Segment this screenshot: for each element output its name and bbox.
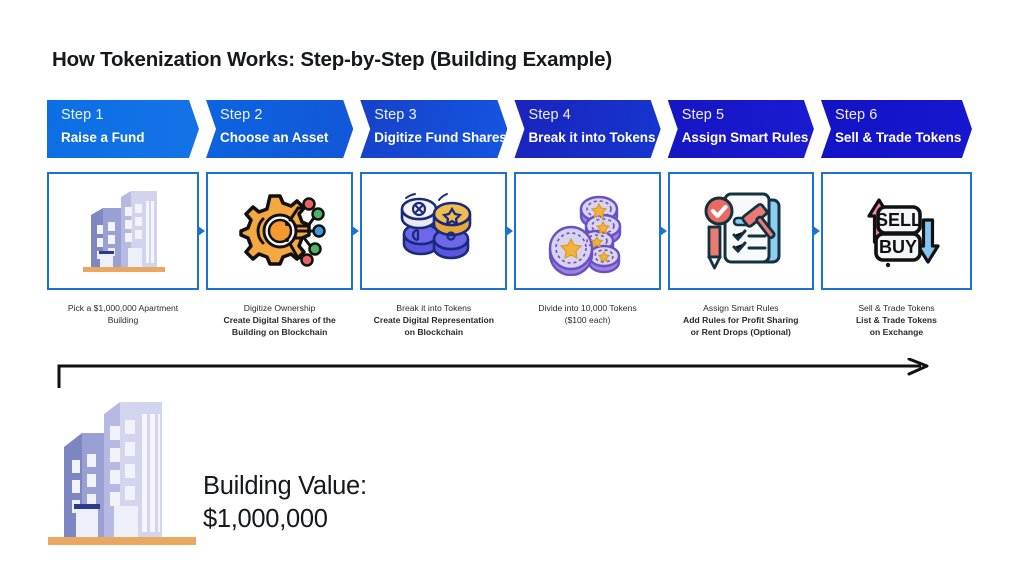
icon-card-6[interactable]: SELL BUY: [821, 172, 972, 290]
caption-5-line1: Assign Smart Rules: [668, 302, 814, 314]
caption-3: Break it into Tokens Create Digital Repr…: [360, 302, 507, 339]
caption-3-line3: on Blockchain: [360, 326, 507, 338]
caption-2-line3: Building on Blockchain: [206, 326, 353, 338]
step-number-1: Step 1: [61, 107, 199, 124]
caption-5: Assign Smart Rules Add Rules for Profit …: [668, 302, 814, 339]
caption-6-line1: Sell & Trade Tokens: [821, 302, 972, 314]
step-number-5: Step 5: [682, 107, 814, 124]
icon-card-3[interactable]: [360, 172, 507, 290]
caption-5-line2: Add Rules for Profit Sharing: [668, 314, 814, 326]
step-banner-5[interactable]: Step 5 Assign Smart Rules: [668, 100, 814, 158]
connector-arrow-2: [352, 226, 359, 236]
step-number-4: Step 4: [528, 107, 660, 124]
step-label-5: Assign Smart Rules: [682, 130, 814, 146]
token-stack-icon: [538, 186, 638, 276]
caption-6: Sell & Trade Tokens List & Trade Tokens …: [821, 302, 972, 339]
timeline-arrow: [55, 358, 945, 390]
step-banner-3[interactable]: Step 3 Digitize Fund Shares: [360, 100, 507, 158]
connector-arrow-1: [198, 226, 205, 236]
icon-card-row: SELL BUY: [47, 172, 972, 290]
coins-icon: [384, 186, 484, 276]
caption-3-line2: Create Digital Representation: [360, 314, 507, 326]
connector-arrow-5: [813, 226, 820, 236]
icon-card-4[interactable]: [514, 172, 660, 290]
caption-2: Digitize Ownership Create Digital Shares…: [206, 302, 353, 339]
building-value-block: Building Value: $1,000,000: [203, 470, 367, 535]
infographic-root: How Tokenization Works: Step-by-Step (Bu…: [0, 0, 1024, 576]
large-building-illustration: [38, 392, 208, 552]
caption-4-line1: Divide into 10,000 Tokens: [514, 302, 660, 314]
step-label-4: Break it into Tokens: [528, 130, 660, 146]
step-banner-4[interactable]: Step 4 Break it into Tokens: [514, 100, 660, 158]
icon-card-2[interactable]: [206, 172, 353, 290]
step-number-2: Step 2: [220, 107, 353, 124]
gear-circuit-icon: [230, 186, 330, 276]
step-label-6: Sell & Trade Tokens: [835, 130, 972, 146]
step-number-3: Step 3: [374, 107, 507, 124]
caption-4-line2: ($100 each): [514, 314, 660, 326]
building-value-label: Building Value:: [203, 470, 367, 503]
caption-2-line1: Digitize Ownership: [206, 302, 353, 314]
caption-3-line1: Break it into Tokens: [360, 302, 507, 314]
contract-gavel-icon: [691, 186, 791, 276]
caption-6-line3: on Exchange: [821, 326, 972, 338]
buy-icon-label: BUY: [879, 237, 917, 257]
caption-1-line1: Pick a $1,000,000 Apartment: [47, 302, 199, 314]
icon-card-5[interactable]: [668, 172, 814, 290]
step-label-1: Raise a Fund: [61, 130, 199, 146]
page-title: How Tokenization Works: Step-by-Step (Bu…: [52, 48, 612, 72]
sell-icon-label: SELL: [876, 210, 922, 230]
office-buildings-icon: [73, 185, 173, 277]
caption-6-line2: List & Trade Tokens: [821, 314, 972, 326]
step-number-6: Step 6: [835, 107, 972, 124]
sell-buy-icon: SELL BUY: [846, 186, 946, 276]
caption-2-line2: Create Digital Shares of the: [206, 314, 353, 326]
step-label-2: Choose an Asset: [220, 130, 353, 146]
building-value-amount: $1,000,000: [203, 503, 367, 536]
step-banner-1[interactable]: Step 1 Raise a Fund: [47, 100, 199, 158]
icon-card-1[interactable]: [47, 172, 199, 290]
step-label-3: Digitize Fund Shares: [374, 130, 507, 146]
caption-1-line2: Building: [47, 314, 199, 326]
caption-4: Divide into 10,000 Tokens ($100 each): [514, 302, 660, 339]
connector-arrow-4: [660, 226, 667, 236]
caption-1: Pick a $1,000,000 Apartment Building: [47, 302, 199, 339]
step-banner-2[interactable]: Step 2 Choose an Asset: [206, 100, 353, 158]
caption-5-line3: or Rent Drops (Optional): [668, 326, 814, 338]
step-banner-row: Step 1 Raise a Fund Step 2 Choose an Ass…: [47, 100, 972, 158]
caption-row: Pick a $1,000,000 Apartment Building Dig…: [47, 302, 972, 339]
connector-arrow-3: [506, 226, 513, 236]
step-banner-6[interactable]: Step 6 Sell & Trade Tokens: [821, 100, 972, 158]
